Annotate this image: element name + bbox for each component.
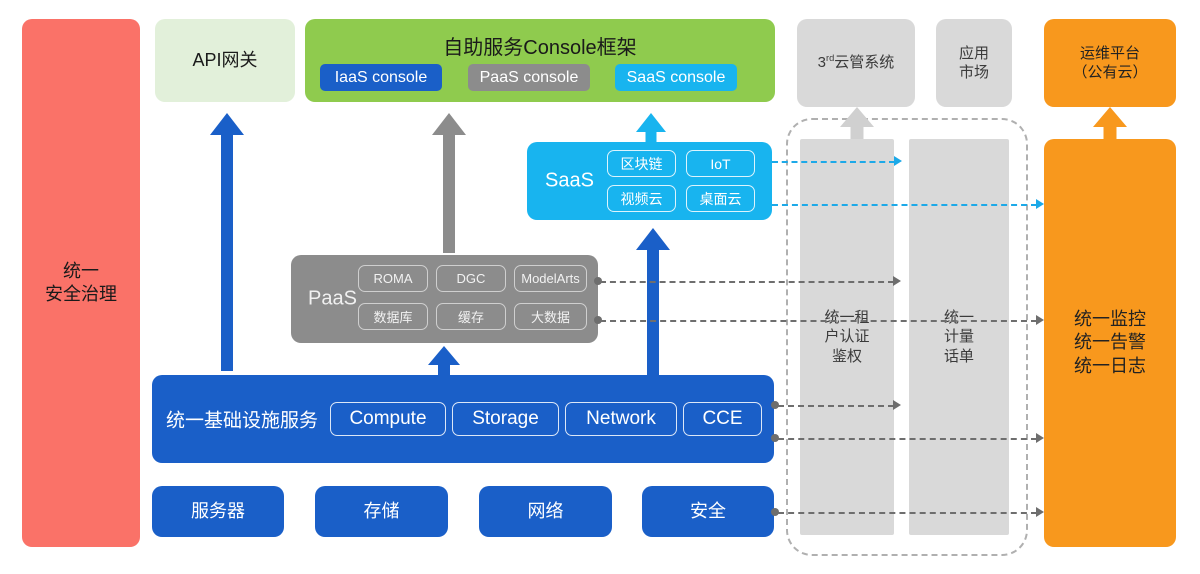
paas-item-cache-label: 缓存 xyxy=(458,307,484,326)
iaas-item-cce-label: CCE xyxy=(702,408,742,430)
paas-item-dgc-label: DGC xyxy=(457,271,486,286)
connector-paas-to-monitoring xyxy=(600,320,1037,322)
connector-paas-to-tenant-auth xyxy=(600,281,894,283)
iaas-console-pill[interactable]: IaaS console xyxy=(320,64,442,91)
connector-saas-to-tenant-auth xyxy=(772,161,895,163)
paas-panel[interactable]: PaaS ROMA DGC ModelArts 数据库 缓存 大数据 xyxy=(291,255,598,343)
iaas-console-label: IaaS console xyxy=(335,69,428,87)
arrow-right-icon-paas-monitoring xyxy=(1036,315,1044,325)
saas-item-iot-label: IoT xyxy=(710,156,730,172)
infrastructure-panel[interactable]: 统一基础设施服务 Compute Storage Network CCE xyxy=(152,375,774,463)
arrow-right-icon-saas-monitoring xyxy=(1036,199,1044,209)
saas-item-iot[interactable]: IoT xyxy=(686,150,755,177)
saas-item-blockchain[interactable]: 区块链 xyxy=(607,150,676,177)
hardware-item-server-label: 服务器 xyxy=(191,500,245,523)
iaas-item-network[interactable]: Network xyxy=(565,402,677,436)
arrow-up-icon-to-ops-platform xyxy=(1093,107,1127,139)
third-party-cloud-mgmt-box[interactable]: 3rd云管系统 xyxy=(797,19,915,107)
saas-item-desktop-cloud-label: 桌面云 xyxy=(700,189,742,209)
paas-item-database[interactable]: 数据库 xyxy=(358,303,428,330)
monitoring-label: 统一监控 统一告警 统一日志 xyxy=(1074,308,1146,377)
app-market-box[interactable]: 应用 市场 xyxy=(936,19,1012,107)
iaas-item-storage[interactable]: Storage xyxy=(452,402,559,436)
saas-item-video-cloud[interactable]: 视频云 xyxy=(607,185,676,212)
paas-item-dgc[interactable]: DGC xyxy=(436,265,506,292)
paas-item-modelarts-label: ModelArts xyxy=(521,271,580,286)
saas-item-video-cloud-label: 视频云 xyxy=(621,189,663,209)
arrow-right-icon-iaas-monitoring xyxy=(1036,433,1044,443)
console-framework-panel[interactable]: 自助服务Console框架 IaaS console PaaS console … xyxy=(305,19,775,102)
security-governance-panel[interactable]: 统一 安全治理 xyxy=(22,19,140,547)
metering-column[interactable]: 统一 计量 话单 xyxy=(909,139,1009,535)
arrow-right-icon-iaas-tenant xyxy=(893,400,901,410)
hardware-item-network-label: 网络 xyxy=(528,500,564,523)
console-framework-title: 自助服务Console框架 xyxy=(305,31,775,60)
iaas-item-network-label: Network xyxy=(586,408,656,430)
hardware-item-storage[interactable]: 存储 xyxy=(315,486,448,537)
hardware-item-security-label: 安全 xyxy=(690,500,726,523)
saas-item-blockchain-label: 区块链 xyxy=(621,154,663,174)
third-party-cloud-mgmt-label: 3rd云管系统 xyxy=(818,53,895,72)
infrastructure-label: 统一基础设施服务 xyxy=(166,406,318,433)
ops-platform-label: 运维平台 （公有云） xyxy=(1072,44,1147,82)
paas-item-cache[interactable]: 缓存 xyxy=(436,303,506,330)
api-gateway-label: API网关 xyxy=(192,49,257,72)
api-gateway-box[interactable]: API网关 xyxy=(155,19,295,102)
security-governance-label: 统一 安全治理 xyxy=(45,260,117,306)
architecture-diagram: 统一 安全治理 API网关 自助服务Console框架 IaaS console… xyxy=(0,0,1200,574)
arrow-up-icon-iaas-to-paas xyxy=(427,346,461,376)
app-market-label: 应用 市场 xyxy=(959,44,989,82)
paas-item-modelarts[interactable]: ModelArts xyxy=(514,265,587,292)
hardware-item-security[interactable]: 安全 xyxy=(642,486,774,537)
paas-item-roma-label: ROMA xyxy=(374,271,413,286)
paas-console-label: PaaS console xyxy=(480,69,579,87)
iaas-item-compute[interactable]: Compute xyxy=(330,402,446,436)
paas-item-bigdata[interactable]: 大数据 xyxy=(514,303,587,330)
iaas-item-cce[interactable]: CCE xyxy=(683,402,762,436)
saas-label: SaaS xyxy=(545,170,594,193)
hardware-item-storage-label: 存储 xyxy=(364,500,400,523)
connector-iaas-to-monitoring xyxy=(778,438,1037,440)
connector-saas-to-monitoring xyxy=(772,204,1037,206)
paas-label: PaaS xyxy=(308,288,357,311)
saas-item-desktop-cloud[interactable]: 桌面云 xyxy=(686,185,755,212)
paas-item-database-label: 数据库 xyxy=(373,307,412,326)
saas-console-pill[interactable]: SaaS console xyxy=(615,64,737,91)
tenant-auth-label: 统一租 户认证 鉴权 xyxy=(824,308,869,366)
paas-item-bigdata-label: 大数据 xyxy=(531,307,570,326)
arrow-up-icon-iaas-to-saas xyxy=(636,228,670,375)
arrow-right-icon-paas-tenant xyxy=(893,276,901,286)
iaas-item-storage-label: Storage xyxy=(472,408,539,430)
arrow-up-icon-iaas-to-gateway xyxy=(210,113,244,371)
saas-panel[interactable]: SaaS 区块链 IoT 视频云 桌面云 xyxy=(527,142,772,220)
ops-platform-box[interactable]: 运维平台 （公有云） xyxy=(1044,19,1176,107)
connector-iaas-to-tenant-auth xyxy=(778,405,894,407)
monitoring-column[interactable]: 统一监控 统一告警 统一日志 xyxy=(1044,139,1176,547)
tenant-auth-column[interactable]: 统一租 户认证 鉴权 xyxy=(800,139,894,535)
metering-label: 统一 计量 话单 xyxy=(944,308,974,366)
arrow-right-icon-hardware-monitoring xyxy=(1036,507,1044,517)
saas-console-label: SaaS console xyxy=(627,69,726,87)
paas-item-roma[interactable]: ROMA xyxy=(358,265,428,292)
connector-hardware-to-monitoring xyxy=(778,512,1037,514)
arrow-up-icon-saas-to-console xyxy=(636,113,666,143)
arrow-right-icon-saas-tenant xyxy=(894,156,902,166)
paas-console-pill[interactable]: PaaS console xyxy=(468,64,590,91)
hardware-item-server[interactable]: 服务器 xyxy=(152,486,284,537)
iaas-item-compute-label: Compute xyxy=(349,408,426,430)
arrow-up-icon-to-third-party xyxy=(840,107,874,139)
hardware-item-network[interactable]: 网络 xyxy=(479,486,612,537)
arrow-up-icon-paas-to-console xyxy=(432,113,466,253)
